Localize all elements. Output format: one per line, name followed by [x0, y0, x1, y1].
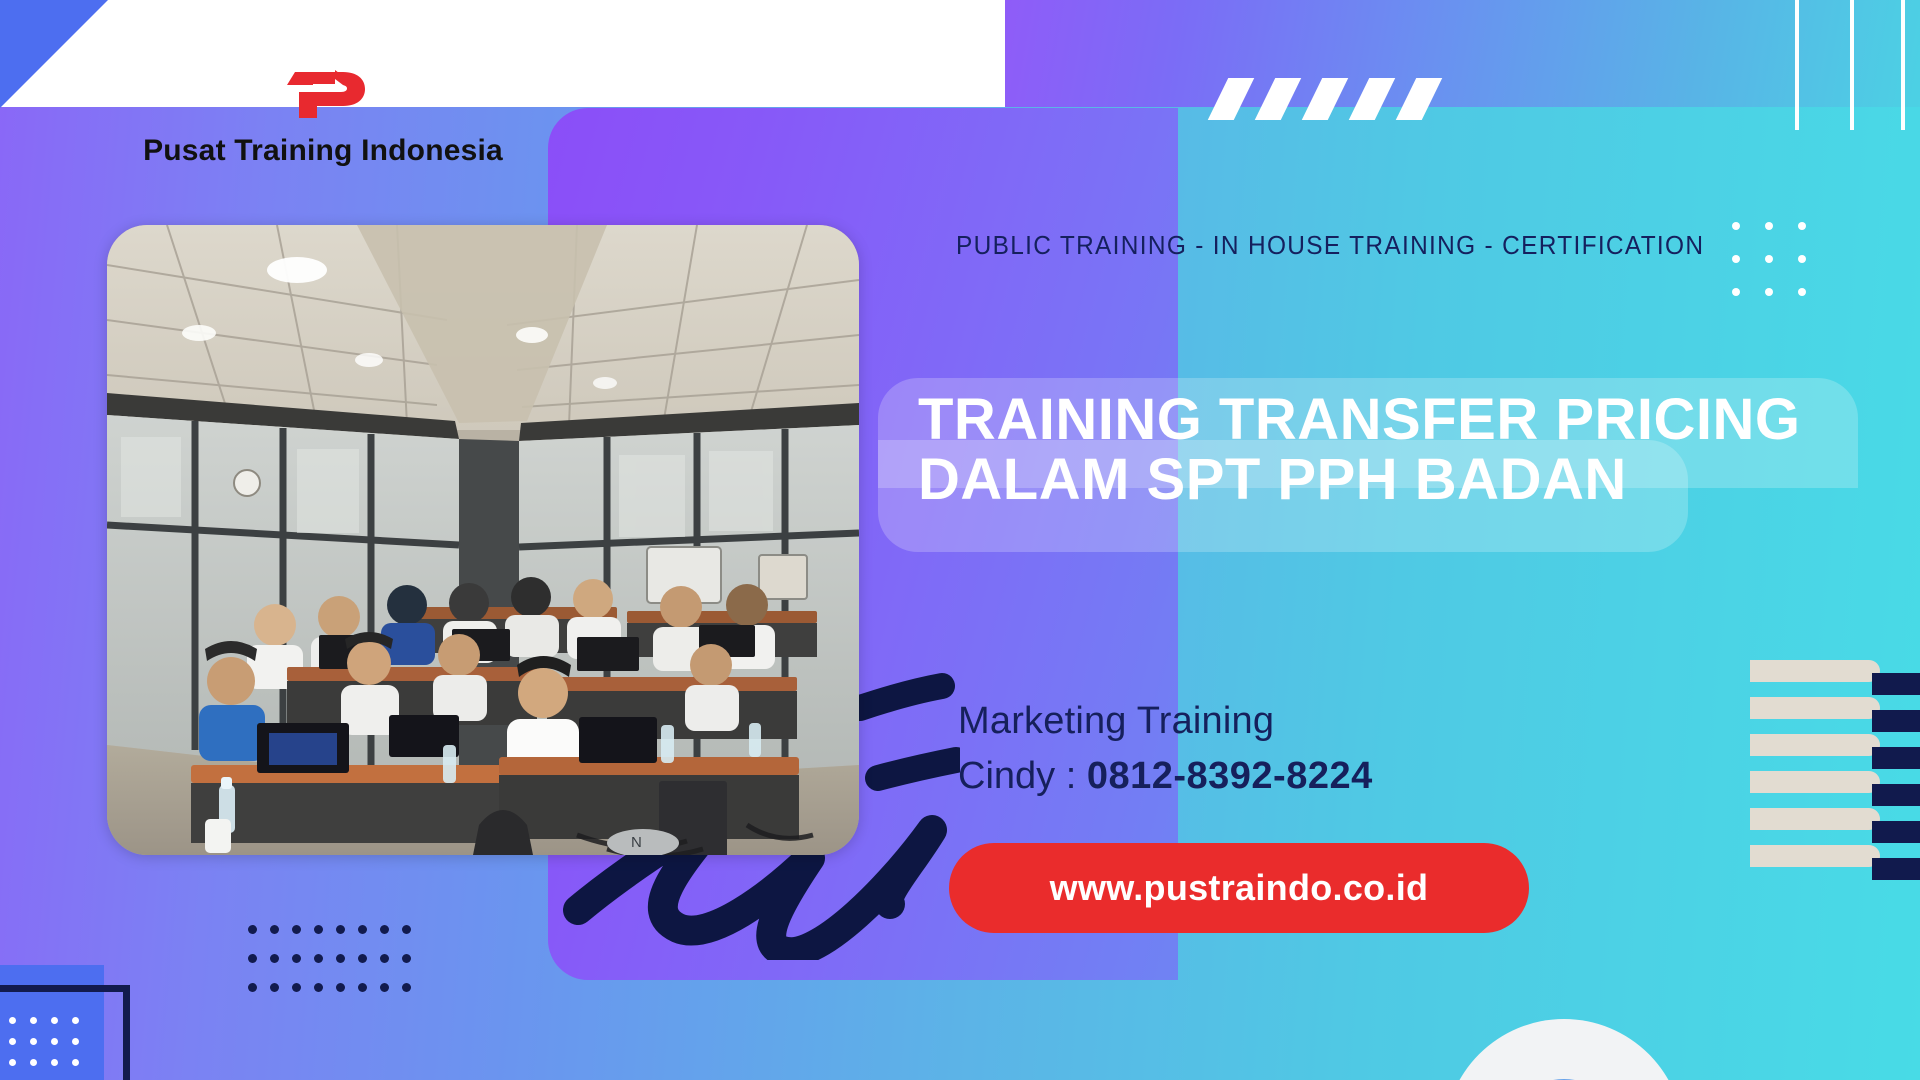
pustraindo-p-logo-icon [277, 62, 369, 120]
navy-dot [380, 983, 389, 992]
vertical-line-3 [1901, 0, 1905, 130]
contact-person-line: Cindy : 0812-8392-8224 [958, 755, 1578, 798]
website-cta-label: www.pustraindo.co.id [1050, 867, 1429, 909]
bar-cream-segment [1750, 734, 1880, 756]
bar-cream-segment [1750, 660, 1880, 682]
navy-dot [336, 983, 345, 992]
navy-dot [314, 983, 323, 992]
title-block: TRAINING TRANSFER PRICING DALAM SPT PPH … [878, 378, 1878, 568]
training-photo: N [107, 225, 859, 855]
website-cta-button[interactable]: www.pustraindo.co.id [949, 843, 1529, 933]
contact-phone[interactable]: 0812-8392-8224 [1087, 755, 1373, 797]
brand-name: Pusat Training Indonesia [128, 134, 518, 168]
bar-stack-decoration [1750, 660, 1920, 885]
bar-navy-segment [1872, 784, 1920, 806]
white-dot [1765, 255, 1773, 263]
white-dot-grid-decoration [1732, 222, 1806, 296]
navy-dot [292, 983, 301, 992]
bar-navy-segment [1872, 710, 1920, 732]
bar-navy-segment [1872, 673, 1920, 695]
bar-cream-segment [1750, 697, 1880, 719]
triangle-decoration-top-left [0, 0, 108, 108]
white-dot [1765, 222, 1773, 230]
bar-cream-segment [1750, 808, 1880, 830]
contact-role: Marketing Training [958, 700, 1578, 743]
navy-dot [402, 925, 411, 934]
white-dot [1798, 255, 1806, 263]
tagline-text: PUBLIC TRAINING - IN HOUSE TRAINING - CE… [956, 230, 1670, 261]
page-title: TRAINING TRANSFER PRICING DALAM SPT PPH … [918, 390, 1858, 509]
bar-row [1750, 697, 1920, 733]
bar-row [1750, 808, 1920, 844]
bar-cream-segment [1750, 845, 1880, 867]
navy-dot [270, 925, 279, 934]
navy-dot [270, 983, 279, 992]
white-dot [1798, 288, 1806, 296]
title-line-2: DALAM SPT PPH BADAN [918, 450, 1858, 510]
navy-dot [292, 925, 301, 934]
bar-cream-segment [1750, 771, 1880, 793]
navy-dot [248, 983, 257, 992]
navy-dot [248, 925, 257, 934]
stripe-5 [1396, 78, 1442, 120]
poster-canvas: N Pusat Training Indonesia PUBLIC TRAINI… [0, 0, 1920, 1080]
brand-logo-block: Pusat Training Indonesia [128, 62, 518, 168]
navy-dot [314, 925, 323, 934]
white-dot [1732, 288, 1740, 296]
navy-dot [270, 954, 279, 963]
bar-navy-segment [1872, 747, 1920, 769]
white-dot [1732, 255, 1740, 263]
contact-block: Marketing Training Cindy : 0812-8392-822… [958, 700, 1578, 798]
white-dot [1732, 222, 1740, 230]
diagonal-stripes-decoration [1218, 78, 1448, 120]
navy-dot-grid-decoration [248, 925, 428, 1007]
navy-dot [314, 954, 323, 963]
navy-dot [402, 954, 411, 963]
bar-navy-segment [1872, 858, 1920, 880]
bar-row [1750, 845, 1920, 881]
navy-dot [358, 925, 367, 934]
navy-dot [380, 925, 389, 934]
navy-outline-square-decoration [0, 985, 130, 1080]
vertical-line-2 [1850, 0, 1854, 130]
navy-dot [380, 954, 389, 963]
navy-dot [358, 954, 367, 963]
navy-dot [248, 954, 257, 963]
white-dot [1765, 288, 1773, 296]
title-line-1: TRAINING TRANSFER PRICING [918, 390, 1858, 450]
navy-dot [336, 925, 345, 934]
white-dot [1798, 222, 1806, 230]
vertical-lines-decoration [1795, 0, 1905, 130]
vertical-line-1 [1795, 0, 1799, 130]
contact-name-label: Cindy : [958, 755, 1087, 797]
navy-dot [358, 983, 367, 992]
navy-dot [402, 983, 411, 992]
navy-dot [292, 954, 301, 963]
navy-dot [336, 954, 345, 963]
stripe-2 [1255, 78, 1301, 120]
bar-row [1750, 734, 1920, 770]
bar-row [1750, 771, 1920, 807]
bar-row [1750, 660, 1920, 696]
svg-text:N: N [631, 834, 642, 851]
stripe-3 [1302, 78, 1348, 120]
bar-navy-segment [1872, 821, 1920, 843]
stripe-4 [1349, 78, 1395, 120]
